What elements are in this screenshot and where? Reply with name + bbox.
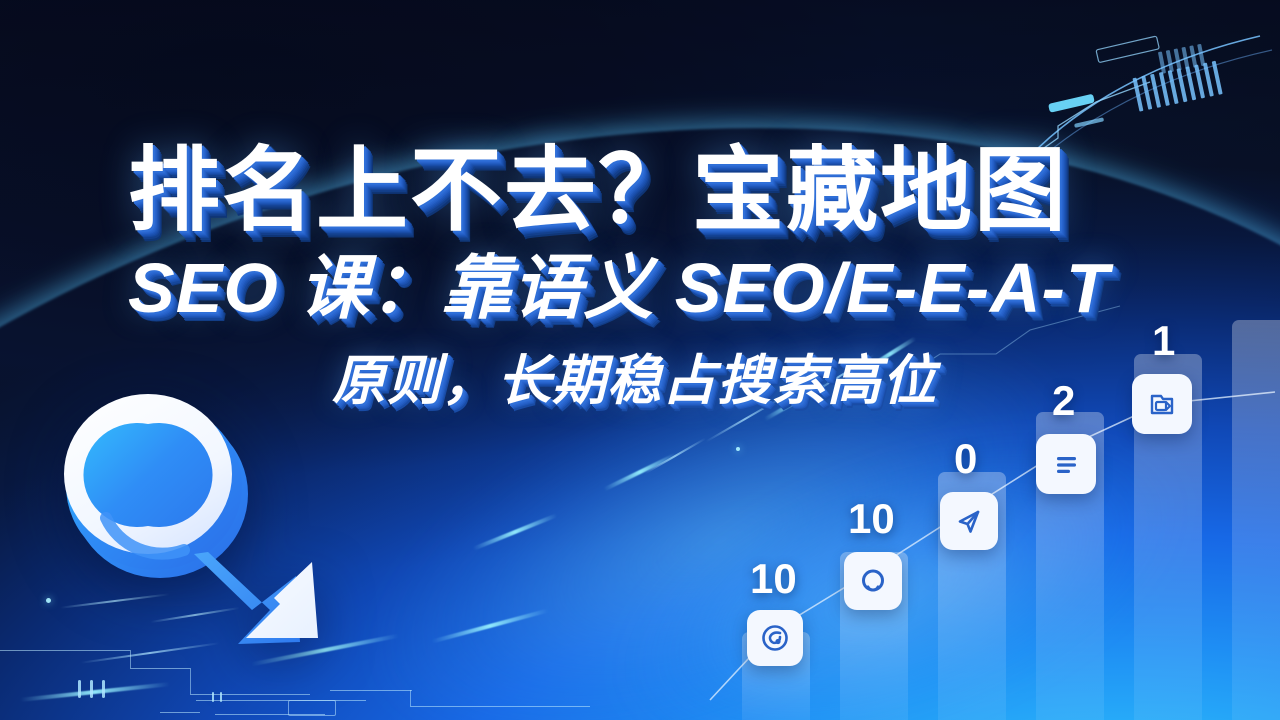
chart-label-4: 2 <box>1052 380 1075 422</box>
chart-tile-1 <box>747 610 803 666</box>
circuit-tick-4 <box>212 692 214 702</box>
chart-bar-6-partial <box>1232 320 1280 720</box>
circuit-line-7 <box>215 714 325 715</box>
ring-circle-icon <box>857 565 889 597</box>
chart-label-1: 10 <box>750 558 797 600</box>
document-edit-icon <box>1145 387 1179 421</box>
circuit-line-8 <box>160 712 200 713</box>
page-tagline: 原则，长期稳占搜索高位 <box>332 336 937 415</box>
tech-dot-1 <box>46 598 51 603</box>
chart-tile-5 <box>1132 374 1192 434</box>
chart-label-5: 1 <box>1152 320 1175 362</box>
circuit-line-11 <box>330 690 412 691</box>
chart-tile-3 <box>940 492 998 550</box>
seo-promo-poster: 排名上不去？宝藏地图 SEO 课：靠语义 SEO/E-E-A-T 原则，长期稳占… <box>0 0 1280 720</box>
circuit-tick-5 <box>220 692 222 702</box>
page-subtitle: SEO 课：靠语义 SEO/E-E-A-T <box>128 232 1110 333</box>
circuit-line-9 <box>410 706 590 707</box>
circuit-line-4 <box>190 694 310 695</box>
circuit-line-10 <box>410 690 411 706</box>
paper-plane-icon <box>953 505 985 537</box>
chart-label-2: 10 <box>848 498 895 540</box>
chart-tile-2 <box>844 552 902 610</box>
page-title: 排名上不去？宝藏地图 <box>128 116 1068 249</box>
spiral-circle-icon <box>759 622 791 654</box>
chart-label-3: 0 <box>954 438 977 480</box>
magnifying-glass-down-arrow-icon <box>62 376 422 686</box>
text-lines-icon <box>1049 447 1083 481</box>
chart-tile-4 <box>1036 434 1096 494</box>
